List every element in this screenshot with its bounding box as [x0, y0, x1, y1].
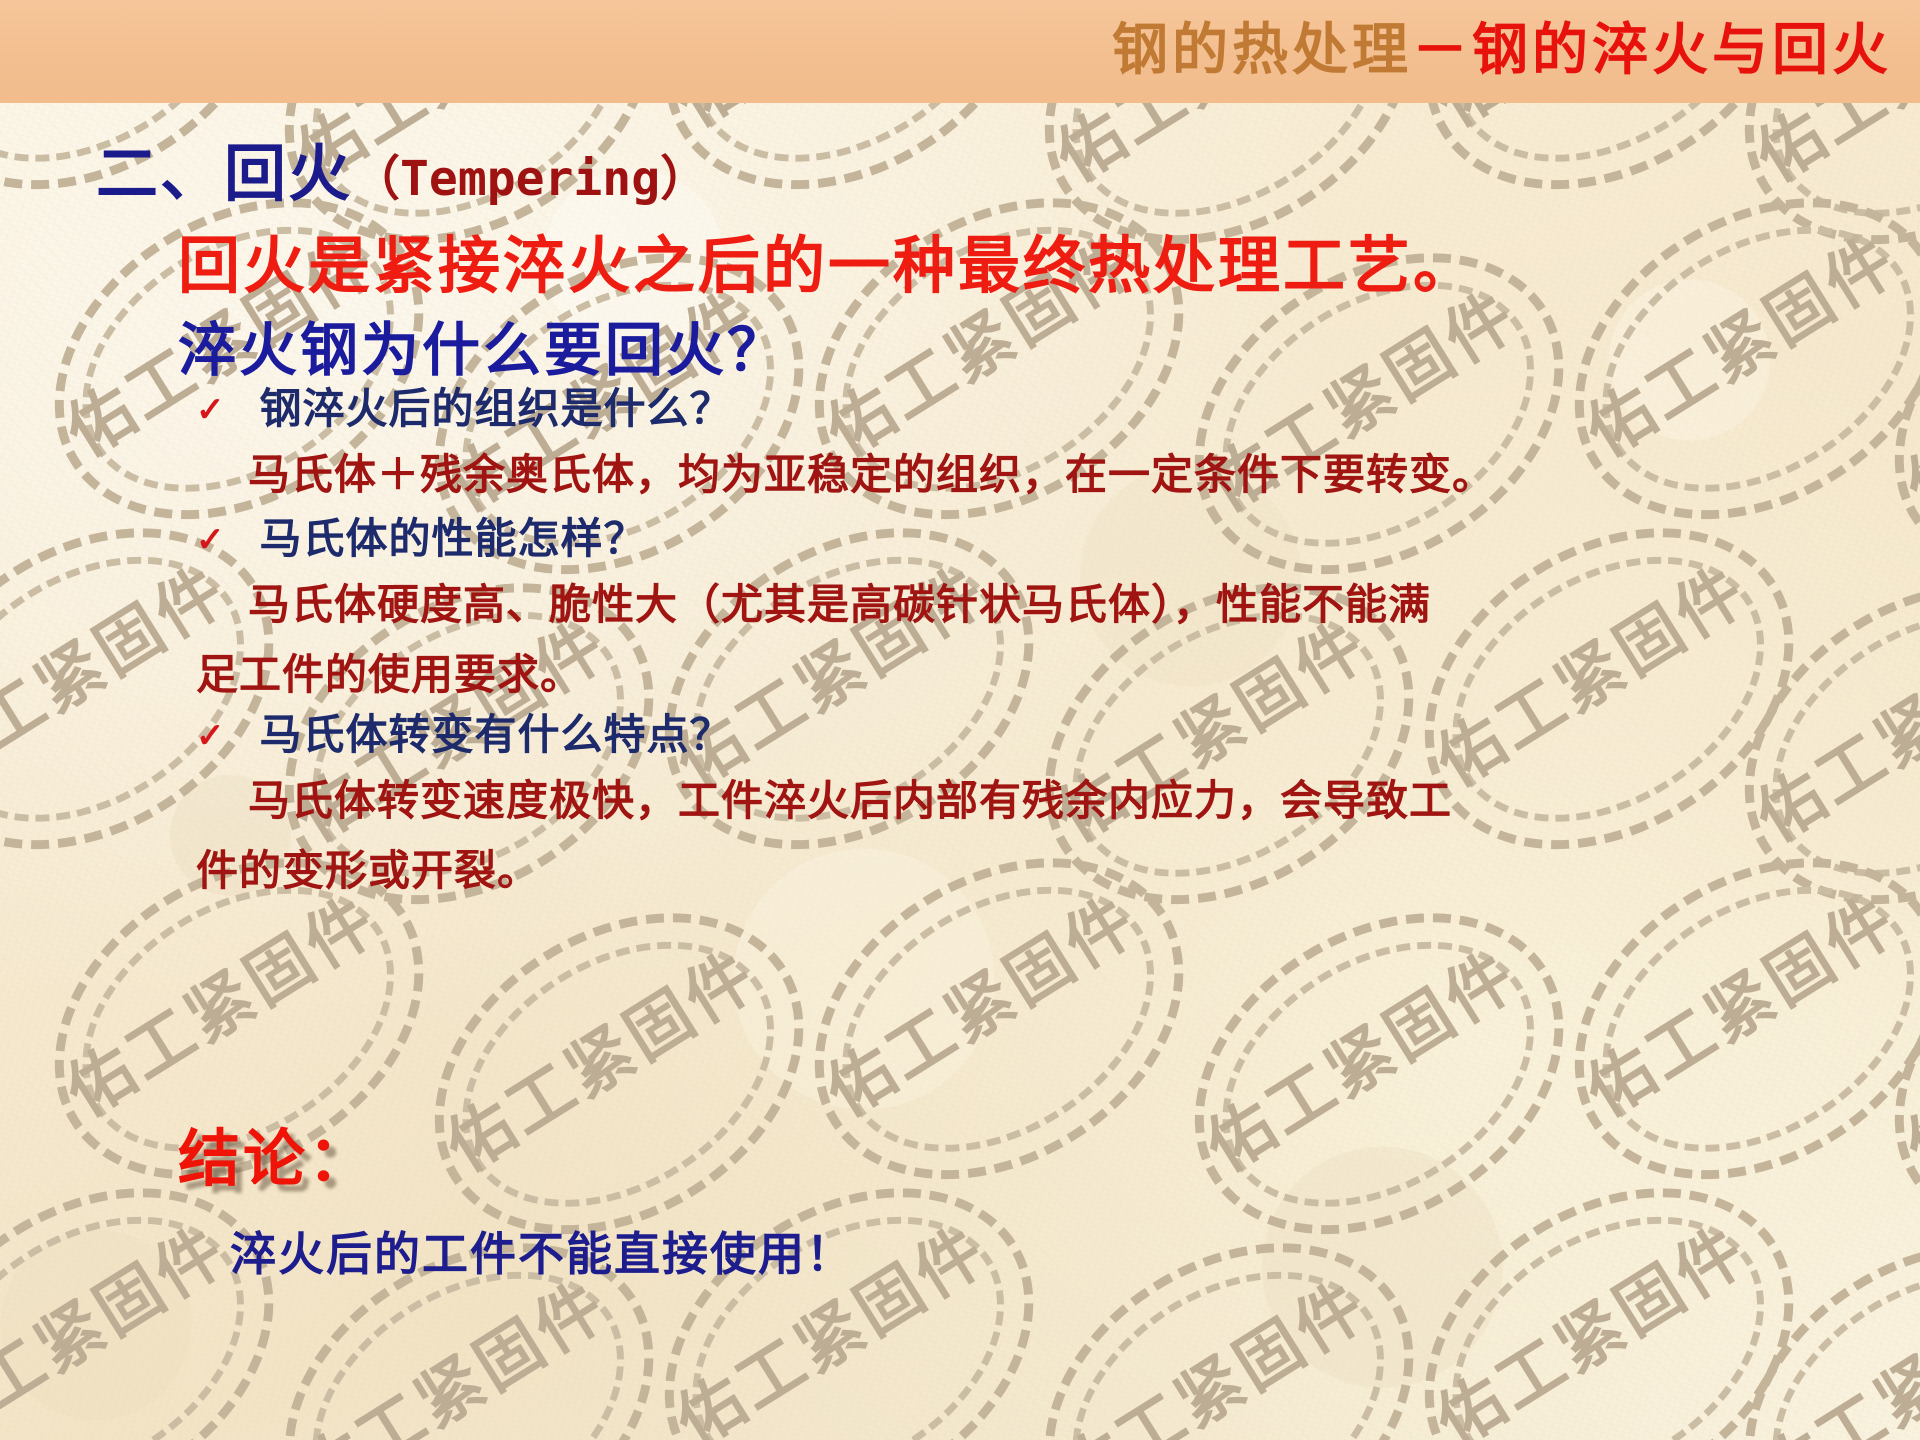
slide-content: 二、回火（Tempering） 回火是紧接淬火之后的一种最终热处理工艺。 淬火钢…: [0, 103, 1920, 1440]
conclusion-text: 淬火后的工件不能直接使用！: [230, 1218, 854, 1284]
check-icon: ✓: [196, 520, 226, 560]
check-icon: ✓: [196, 390, 226, 430]
bullet-item-question-text: 马氏体转变有什么特点？: [260, 710, 733, 759]
bullet-item-answer-line: 马氏体转变速度极快，工件淬火后内部有残余内应力，会导致工: [248, 767, 1452, 828]
bullet-item-answer-line: 足工件的使用要求。: [196, 641, 583, 702]
section-heading: 二、回火（Tempering）: [96, 123, 708, 213]
check-icon: ✓: [196, 716, 226, 756]
bullet-item-question-text: 钢淬火后的组织是什么？: [260, 384, 733, 433]
header-title-topic: 钢的热处理: [1112, 17, 1412, 83]
header-title: 钢的热处理－钢的淬火与回火: [1112, 8, 1892, 92]
slide-root: 佑工紧固件佑工紧固件佑工紧固件佑工紧固件佑工紧固件佑工紧固件佑工紧固件佑工紧固件…: [0, 0, 1920, 1440]
header-title-subtopic: －钢的淬火与回火: [1412, 17, 1892, 83]
bullet-item-question: ✓马氏体转变有什么特点？: [196, 701, 733, 762]
bullet-item-question-text: 马氏体的性能怎样？: [260, 514, 647, 563]
section-heading-en: （Tempering）: [352, 151, 708, 207]
bullet-item-answer-line: 马氏体＋残余奥氏体，均为亚稳定的组织，在一定条件下要转变。: [248, 441, 1495, 502]
header-band: 钢的热处理－钢的淬火与回火: [0, 0, 1920, 103]
bullet-item-question: ✓钢淬火后的组织是什么？: [196, 375, 733, 436]
section-heading-cn: 二、回火: [96, 137, 352, 210]
bullet-item-answer-line: 件的变形或开裂。: [196, 837, 540, 898]
bullet-item-answer-line: 马氏体硬度高、脆性大（尤其是高碳针状马氏体），性能不能满: [248, 571, 1431, 632]
conclusion-label: 结论：: [178, 1108, 373, 1198]
bullet-item-question: ✓马氏体的性能怎样？: [196, 505, 647, 566]
statement-red: 回火是紧接淬火之后的一种最终热处理工艺。: [178, 215, 1478, 305]
